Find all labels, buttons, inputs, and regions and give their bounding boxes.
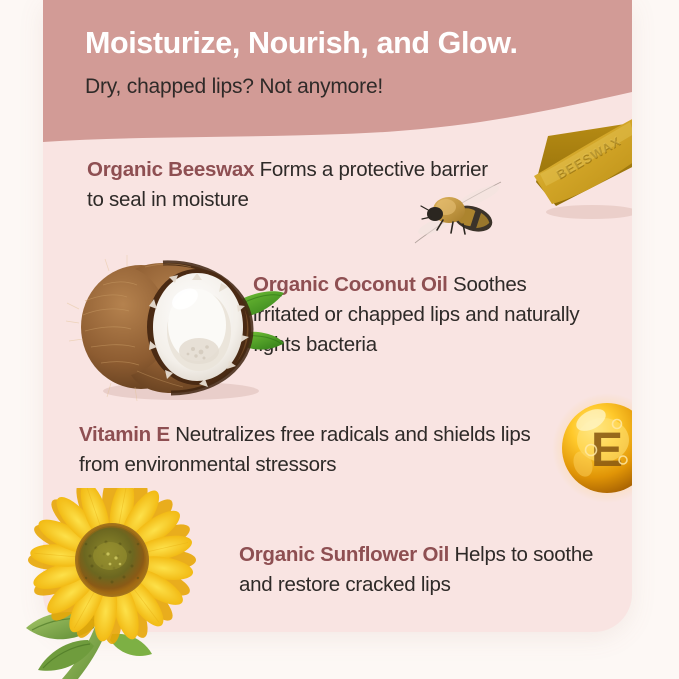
beeswax-bar-image: BEESWAX BEESWAX (530, 114, 632, 224)
page-subtitle: Dry, chapped lips? Not anymore! (85, 75, 625, 99)
benefit-item-coconut: Organic Coconut Oil Soothes irritated or… (253, 270, 598, 360)
coconut-image (65, 251, 287, 403)
benefit-item-sunflower: Organic Sunflower Oil Helps to soothe an… (239, 540, 599, 600)
bee-image (413, 180, 505, 250)
sunflower-image (10, 488, 230, 679)
benefit-lead-beeswax: Organic Beeswax (87, 158, 254, 181)
benefit-item-vitamin-e: Vitamin E Neutralizes free radicals and … (79, 420, 549, 480)
benefit-lead-sunflower: Organic Sunflower Oil (239, 543, 449, 566)
product-benefits-infographic: Moisturize, Nourish, and Glow. Dry, chap… (0, 0, 679, 679)
vitamin-e-capsule-image: E (551, 392, 632, 504)
benefit-lead-vitamin-e: Vitamin E (79, 423, 170, 446)
page-title: Moisturize, Nourish, and Glow. (85, 26, 625, 61)
